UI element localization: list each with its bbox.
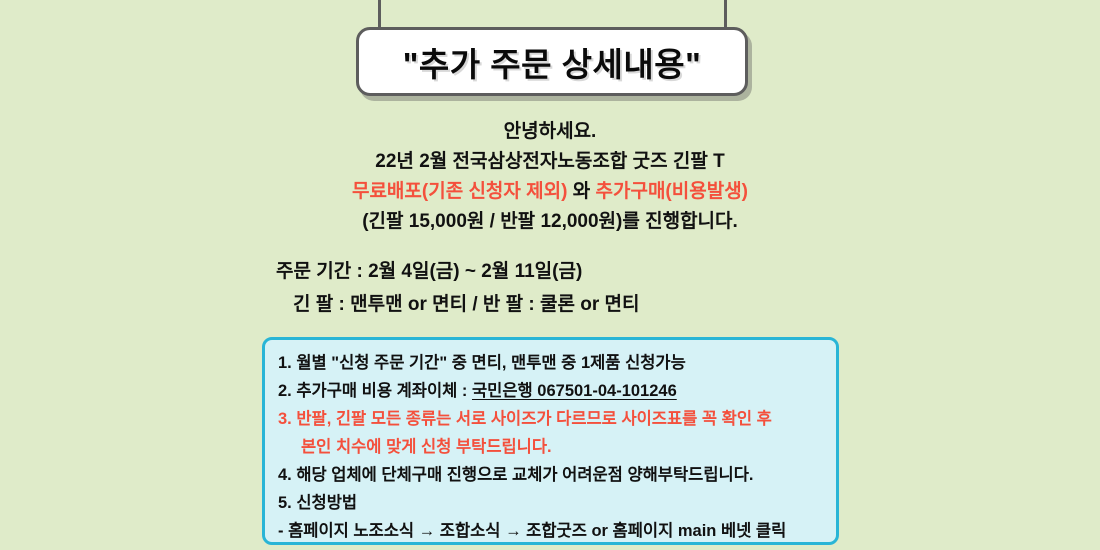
notice-item-5: 5. 신청방법	[278, 489, 836, 517]
title-banner-area: "추가 주문 상세내용"	[0, 0, 1100, 104]
sleeve-options-line: 긴 팔 : 맨투맨 or 면티 / 반 팔 : 쿨론 or 면티	[0, 288, 1100, 321]
offer-conjunction: 와	[567, 181, 595, 202]
intro-product-line: 22년 2월 전국삼상전자노동조합 굿즈 긴팔 T	[0, 147, 1100, 177]
notice-item-3-line-1: 3. 반팔, 긴팔 모든 종류는 서로 사이즈가 다르므로 사이즈표를 꼭 확인…	[278, 405, 836, 433]
period-block: 주문 기간 : 2월 4일(금) ~ 2월 11일(금) 긴 팔 : 맨투맨 o…	[0, 255, 1100, 321]
offer-free-distribution: 무료배포(기존 신청자 제외)	[352, 181, 568, 202]
notice-item-1: 1. 월별 "신청 주문 기간" 중 면티, 맨투맨 중 1제품 신청가능	[278, 349, 836, 377]
notice-item-4: 4. 해당 업체에 단체구매 진행으로 교체가 어려운점 양해부탁드립니다.	[278, 461, 836, 489]
intro-greeting: 안녕하세요.	[0, 117, 1100, 147]
notice-item-3-line-2: 본인 치수에 맞게 신청 부탁드립니다.	[278, 433, 836, 461]
notice-item-5-sub: - 홈페이지 노조소식 → 조합소식 → 조합굿즈 or 홈페이지 main 베…	[278, 517, 836, 545]
intro-offer-line: 무료배포(기존 신청자 제외) 와 추가구매(비용발생)	[0, 177, 1100, 207]
intro-price-line: (긴팔 15,000원 / 반팔 12,000원)를 진행합니다.	[0, 207, 1100, 237]
bank-account-number: 국민은행 067501-04-101246	[472, 382, 677, 400]
order-period-line: 주문 기간 : 2월 4일(금) ~ 2월 11일(금)	[0, 255, 1100, 288]
intro-block: 안녕하세요. 22년 2월 전국삼상전자노동조합 굿즈 긴팔 T 무료배포(기존…	[0, 117, 1100, 237]
notice-box: 1. 월별 "신청 주문 기간" 중 면티, 맨투맨 중 1제품 신청가능 2.…	[262, 337, 839, 545]
page-title: "추가 주문 상세내용"	[403, 38, 702, 86]
notice-item-2: 2. 추가구매 비용 계좌이체 : 국민은행 067501-04-101246	[278, 377, 836, 405]
notice-item-2-prefix: 2. 추가구매 비용 계좌이체 :	[278, 382, 472, 400]
offer-extra-purchase: 추가구매(비용발생)	[596, 181, 749, 202]
title-plate: "추가 주문 상세내용"	[356, 27, 748, 96]
